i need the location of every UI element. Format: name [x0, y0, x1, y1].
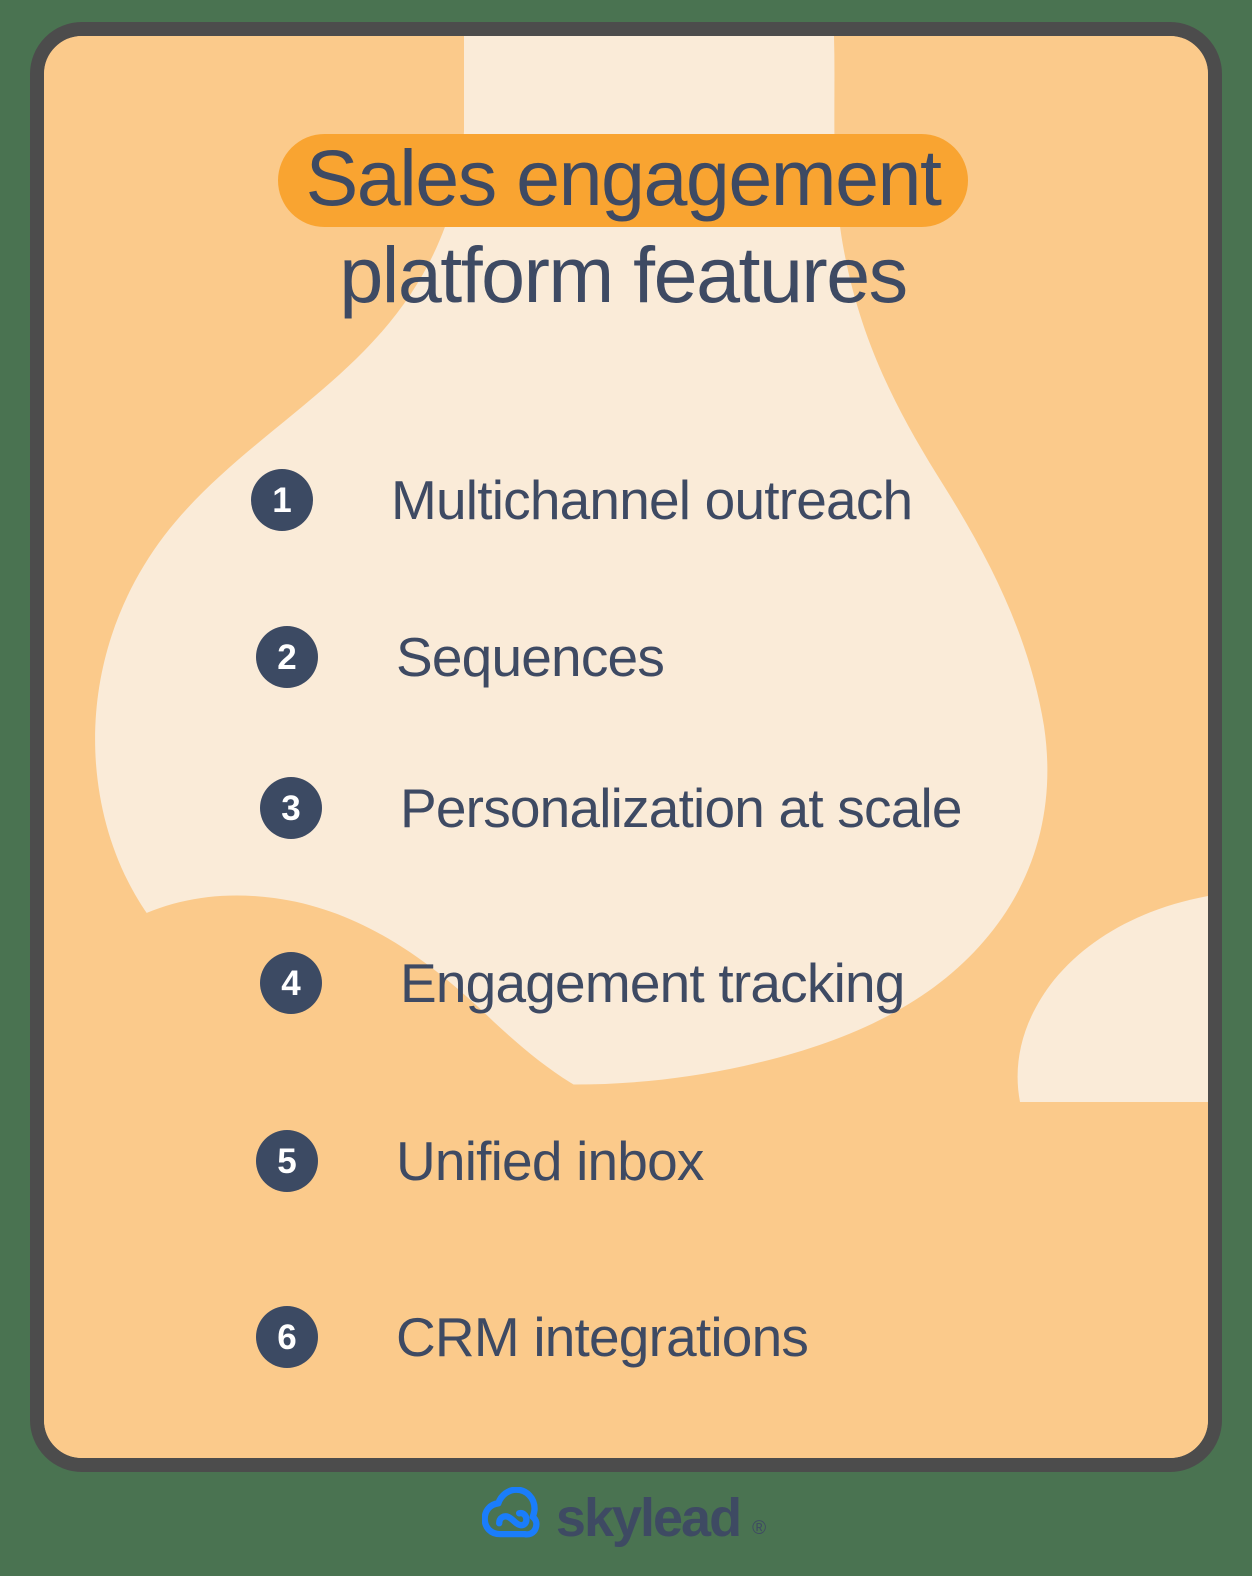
infographic-card: Sales engagement platform features 1 Mul…: [30, 22, 1222, 1472]
list-item: 5 Unified inbox: [256, 1130, 704, 1192]
feature-label: Unified inbox: [396, 1134, 704, 1189]
title-line-1-text: Sales engagement: [306, 133, 941, 222]
skylead-cloud-logo-icon: [482, 1487, 540, 1545]
feature-label: Personalization at scale: [400, 781, 962, 836]
registered-trademark-icon: ®: [752, 1519, 766, 1538]
list-item: 2 Sequences: [256, 626, 664, 688]
feature-number-badge: 4: [260, 952, 322, 1014]
title-line-2-text: platform features: [44, 235, 1208, 316]
page-title: Sales engagement platform features: [44, 128, 1208, 315]
feature-number-badge: 5: [256, 1130, 318, 1192]
list-item: 3 Personalization at scale: [260, 777, 962, 839]
list-item: 6 CRM integrations: [256, 1306, 808, 1368]
feature-number-badge: 1: [251, 469, 313, 531]
title-line-highlighted: Sales engagement: [278, 128, 969, 233]
feature-label: Engagement tracking: [400, 956, 905, 1011]
feature-number-badge: 6: [256, 1306, 318, 1368]
feature-number-badge: 3: [260, 777, 322, 839]
feature-label: CRM integrations: [396, 1310, 808, 1365]
brand-footer: skylead ®: [0, 1487, 1252, 1545]
list-item: 4 Engagement tracking: [260, 952, 905, 1014]
card-inner-surface: Sales engagement platform features 1 Mul…: [44, 36, 1208, 1458]
feature-label: Multichannel outreach: [391, 473, 912, 528]
list-item: 1 Multichannel outreach: [251, 469, 912, 531]
feature-number-badge: 2: [256, 626, 318, 688]
card-content: Sales engagement platform features 1 Mul…: [44, 36, 1208, 1458]
infographic-stage: Sales engagement platform features 1 Mul…: [0, 0, 1252, 1576]
feature-label: Sequences: [396, 630, 664, 685]
brand-wordmark: skylead: [556, 1491, 740, 1545]
